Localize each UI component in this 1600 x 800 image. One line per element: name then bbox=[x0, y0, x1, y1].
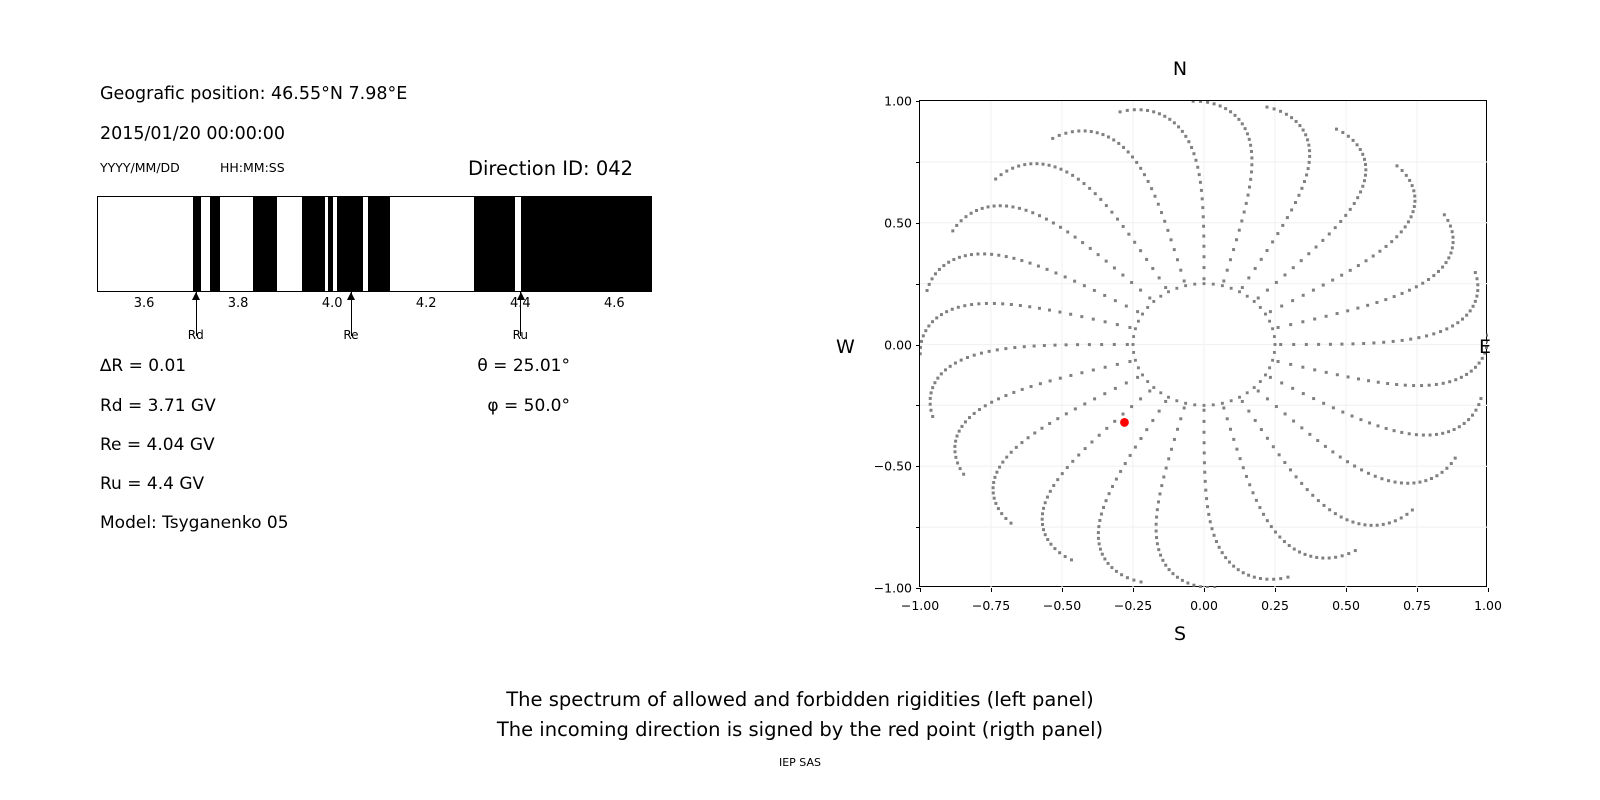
forbidden-band bbox=[210, 196, 220, 292]
param-ru: Ru = 4.4 GV bbox=[100, 474, 204, 494]
y-axis-tick-label: −0.50 bbox=[874, 459, 912, 474]
date-format-hint: YYYY/MM/DD bbox=[100, 160, 180, 175]
x-axis-tick-label: 1.00 bbox=[1474, 598, 1502, 613]
param-delta-r: ∆R = 0.01 bbox=[100, 356, 186, 376]
compass-south-label: S bbox=[1174, 623, 1186, 645]
y-axis-tick-label: 0.50 bbox=[884, 215, 912, 230]
geographic-position-label: Geografic position: 46.55°N 7.98°E bbox=[100, 84, 407, 104]
x-axis-tick-label: 0.50 bbox=[1332, 598, 1360, 613]
direction-id-label: Direction ID: 042 bbox=[468, 157, 633, 180]
datetime-label: 2015/01/20 00:00:00 bbox=[100, 124, 285, 144]
left-panel: Geografic position: 46.55°N 7.98°E 2015/… bbox=[0, 0, 800, 670]
y-axis-tick-label: 0.00 bbox=[884, 337, 912, 352]
forbidden-band bbox=[368, 196, 390, 292]
param-re: Re = 4.04 GV bbox=[100, 435, 215, 455]
forbidden-band bbox=[521, 196, 652, 292]
forbidden-band bbox=[193, 196, 200, 292]
incoming-direction-point bbox=[1120, 418, 1129, 427]
forbidden-band bbox=[328, 196, 333, 292]
footer-credit: IEP SAS bbox=[0, 756, 1600, 769]
right-panel: −1.00−0.500.000.501.00−1.00−0.75−0.50−0.… bbox=[800, 0, 1600, 670]
compass-east-label: E bbox=[1479, 336, 1491, 358]
x-tickmark bbox=[991, 588, 992, 592]
param-rd: Rd = 3.71 GV bbox=[100, 396, 216, 416]
spectrum-tick-label: 3.8 bbox=[228, 296, 249, 311]
x-axis-tick-label: −0.25 bbox=[1114, 598, 1152, 613]
time-format-hint: HH:MM:SS bbox=[220, 160, 285, 175]
y-tickmark bbox=[916, 284, 920, 285]
param-phi: φ = 50.0° bbox=[487, 396, 570, 416]
x-axis-tick-label: 0.75 bbox=[1403, 598, 1431, 613]
forbidden-band bbox=[302, 196, 325, 292]
spectrum-tick-label: 4.6 bbox=[604, 296, 625, 311]
x-tickmark bbox=[1417, 588, 1418, 592]
rigidity-spectrum-bar bbox=[97, 196, 652, 292]
forbidden-band bbox=[253, 196, 277, 292]
forbidden-band bbox=[474, 196, 515, 292]
x-tickmark bbox=[920, 588, 921, 592]
y-tickmark bbox=[916, 223, 920, 224]
rigidity-spectrum-chart bbox=[97, 196, 652, 292]
y-axis-tick-label: 1.00 bbox=[884, 94, 912, 109]
compass-north-label: N bbox=[1173, 58, 1187, 80]
plot-gridlines bbox=[920, 101, 1488, 588]
y-tickmark bbox=[916, 162, 920, 163]
caption-line-1: The spectrum of allowed and forbidden ri… bbox=[0, 688, 1600, 711]
x-tickmark bbox=[1275, 588, 1276, 592]
y-tickmark bbox=[916, 345, 920, 346]
rigidity-marker-label-rd: Rd bbox=[188, 328, 204, 342]
sky-map-canvas bbox=[920, 101, 1488, 588]
forbidden-band bbox=[337, 196, 363, 292]
arrow-up-icon bbox=[347, 292, 355, 300]
x-axis-tick-label: −0.50 bbox=[1043, 598, 1081, 613]
y-tickmark bbox=[916, 405, 920, 406]
spectrum-tick-label: 4.0 bbox=[322, 296, 343, 311]
y-tickmark bbox=[916, 101, 920, 102]
direction-sky-map-plot: −1.00−0.500.000.501.00−1.00−0.75−0.50−0.… bbox=[919, 100, 1487, 587]
arrow-up-icon bbox=[517, 292, 525, 300]
x-tickmark bbox=[1062, 588, 1063, 592]
param-model: Model: Tsyganenko 05 bbox=[100, 513, 289, 533]
x-tickmark bbox=[1204, 588, 1205, 592]
rigidity-marker-label-re: Re bbox=[343, 328, 358, 342]
x-tickmark bbox=[1133, 588, 1134, 592]
x-axis-tick-label: 0.00 bbox=[1190, 598, 1218, 613]
y-axis-tick-label: −1.00 bbox=[874, 581, 912, 596]
y-tickmark bbox=[916, 527, 920, 528]
rigidity-spectrum-axis: 3.63.84.04.24.44.6RdReRu bbox=[97, 292, 652, 352]
x-tickmark bbox=[1488, 588, 1489, 592]
param-theta: θ = 25.01° bbox=[477, 356, 570, 376]
x-axis-tick-label: −0.75 bbox=[972, 598, 1010, 613]
arrow-up-icon bbox=[192, 292, 200, 300]
rigidity-marker-label-ru: Ru bbox=[513, 328, 528, 342]
x-axis-tick-label: 0.25 bbox=[1261, 598, 1289, 613]
x-axis-tick-label: −1.00 bbox=[901, 598, 939, 613]
spectrum-tick-label: 3.6 bbox=[134, 296, 155, 311]
spectrum-tick-label: 4.2 bbox=[416, 296, 437, 311]
y-tickmark bbox=[916, 466, 920, 467]
x-tickmark bbox=[1346, 588, 1347, 592]
caption-line-2: The incoming direction is signed by the … bbox=[0, 718, 1600, 741]
compass-west-label: W bbox=[836, 336, 855, 358]
